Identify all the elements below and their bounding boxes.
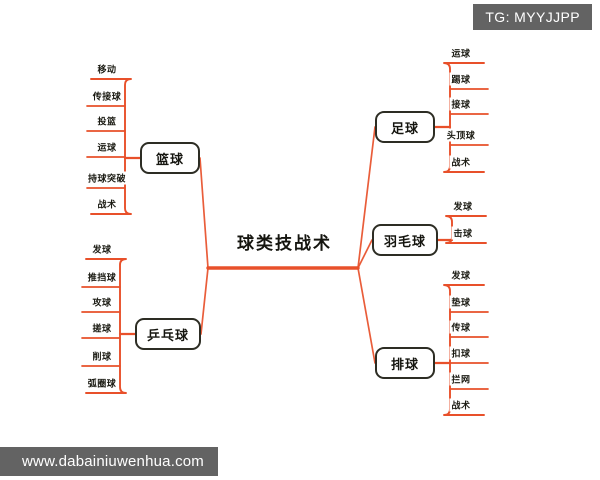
watermark: www.dabainiuwenhua.com [0,447,218,476]
leaf-label[interactable]: 持球突破 [86,172,128,185]
leaf-label[interactable]: 攻球 [90,296,113,309]
leaf-label[interactable]: 发球 [90,243,113,256]
branch-node-volleyball[interactable]: 排球 [375,347,435,379]
leaf-label[interactable]: 推挡球 [86,271,119,284]
leaf-label[interactable]: 传球 [449,321,472,334]
leaf-label[interactable]: 运球 [449,47,472,60]
leaf-label[interactable]: 搓球 [90,322,113,335]
leaf-label[interactable]: 战术 [449,399,472,412]
leaf-label[interactable]: 传接球 [91,90,124,103]
leaf-label[interactable]: 头顶球 [445,129,478,142]
tg-tag: TG: MYYJJPP [473,4,592,30]
branch-node-badminton[interactable]: 羽毛球 [372,224,438,256]
mindmap-canvas: 球类技战术 篮球 乒乓球 足球 羽毛球 排球 移动传接球投篮运球持球突破战术发球… [0,0,600,480]
leaf-label[interactable]: 扣球 [449,347,472,360]
leaf-label[interactable]: 战术 [449,156,472,169]
leaf-label[interactable]: 接球 [449,98,472,111]
branch-node-football[interactable]: 足球 [375,111,435,143]
leaf-label[interactable]: 投篮 [95,115,118,128]
root-node[interactable]: 球类技战术 [237,229,332,254]
branch-node-tabletennis[interactable]: 乒乓球 [135,318,201,350]
leaf-label[interactable]: 拦网 [449,373,472,386]
leaf-label[interactable]: 战术 [95,198,118,211]
leaf-label[interactable]: 移动 [95,63,118,76]
leaf-label[interactable]: 发球 [449,269,472,282]
leaf-label[interactable]: 踢球 [449,73,472,86]
leaf-label[interactable]: 垫球 [449,296,472,309]
leaf-label[interactable]: 发球 [451,200,474,213]
leaf-label[interactable]: 削球 [90,350,113,363]
leaf-label[interactable]: 弧圈球 [86,377,119,390]
branch-node-basketball[interactable]: 篮球 [140,142,200,174]
leaf-label[interactable]: 运球 [95,141,118,154]
leaf-label[interactable]: 击球 [451,227,474,240]
